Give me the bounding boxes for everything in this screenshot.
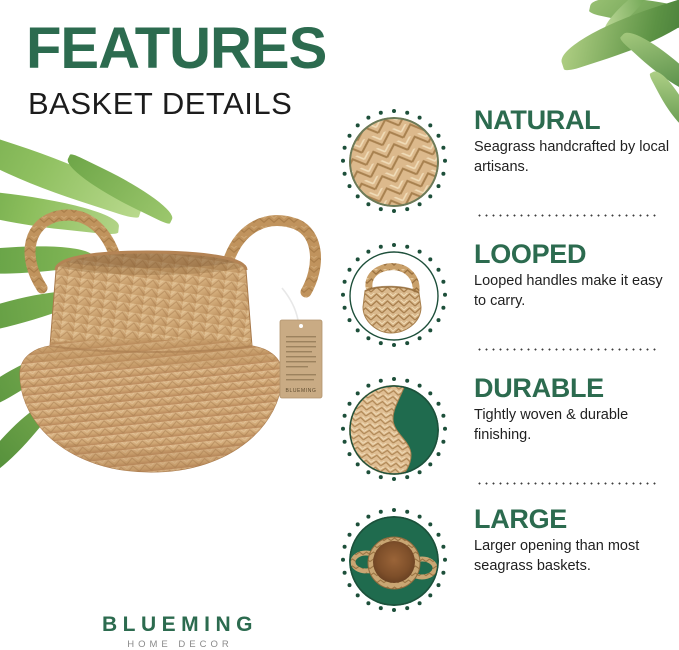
tight-weave-image	[349, 385, 439, 475]
feature-item-natural[interactable]: NATURAL Seagrass handcrafted by local ar…	[340, 106, 670, 224]
feature-divider	[476, 214, 658, 217]
feature-thumbnail-looped	[340, 242, 448, 350]
brand-logo: BLUEMING HOME DECOR	[0, 614, 360, 650]
hang-tag: BLUEMING	[280, 288, 322, 398]
feature-heading: LARGE	[474, 505, 670, 533]
page-subtitle: BASKET DETAILS	[28, 88, 292, 119]
product-photo-basket: BLUEMING	[14, 196, 334, 526]
feature-thumbnail-large	[340, 507, 448, 615]
weave-texture-image	[349, 117, 439, 207]
basket-body	[14, 248, 304, 496]
feature-description: Seagrass handcrafted by local artisans.	[474, 138, 670, 177]
feature-item-large[interactable]: LARGE Larger opening than most seagrass …	[340, 505, 670, 623]
feature-heading: DURABLE	[474, 374, 670, 402]
feature-divider	[476, 348, 658, 351]
hang-tag-brand: BLUEMING	[286, 388, 317, 394]
basket-top-view-image	[349, 516, 439, 606]
feature-heading: LOOPED	[474, 240, 670, 268]
feature-thumbnail-natural	[340, 108, 448, 216]
feature-item-durable[interactable]: DURABLE Tightly woven & durable finishin…	[340, 374, 670, 492]
feature-heading: NATURAL	[474, 106, 670, 134]
feature-description: Larger opening than most seagrass basket…	[474, 537, 670, 576]
feature-description: Looped handles make it easy to carry.	[474, 272, 670, 311]
feature-thumbnail-durable	[340, 376, 448, 484]
infographic-canvas: FEATURES BASKET DETAILS	[0, 0, 679, 650]
feature-description: Tightly woven & durable finishing.	[474, 406, 670, 445]
page-title: FEATURES	[26, 20, 326, 78]
brand-name: BLUEMING	[0, 614, 360, 635]
brand-tagline: HOME DECOR	[0, 640, 360, 650]
feature-divider	[476, 482, 658, 485]
looped-handle-image	[349, 251, 439, 341]
feature-item-looped[interactable]: LOOPED Looped handles make it easy to ca…	[340, 240, 670, 358]
